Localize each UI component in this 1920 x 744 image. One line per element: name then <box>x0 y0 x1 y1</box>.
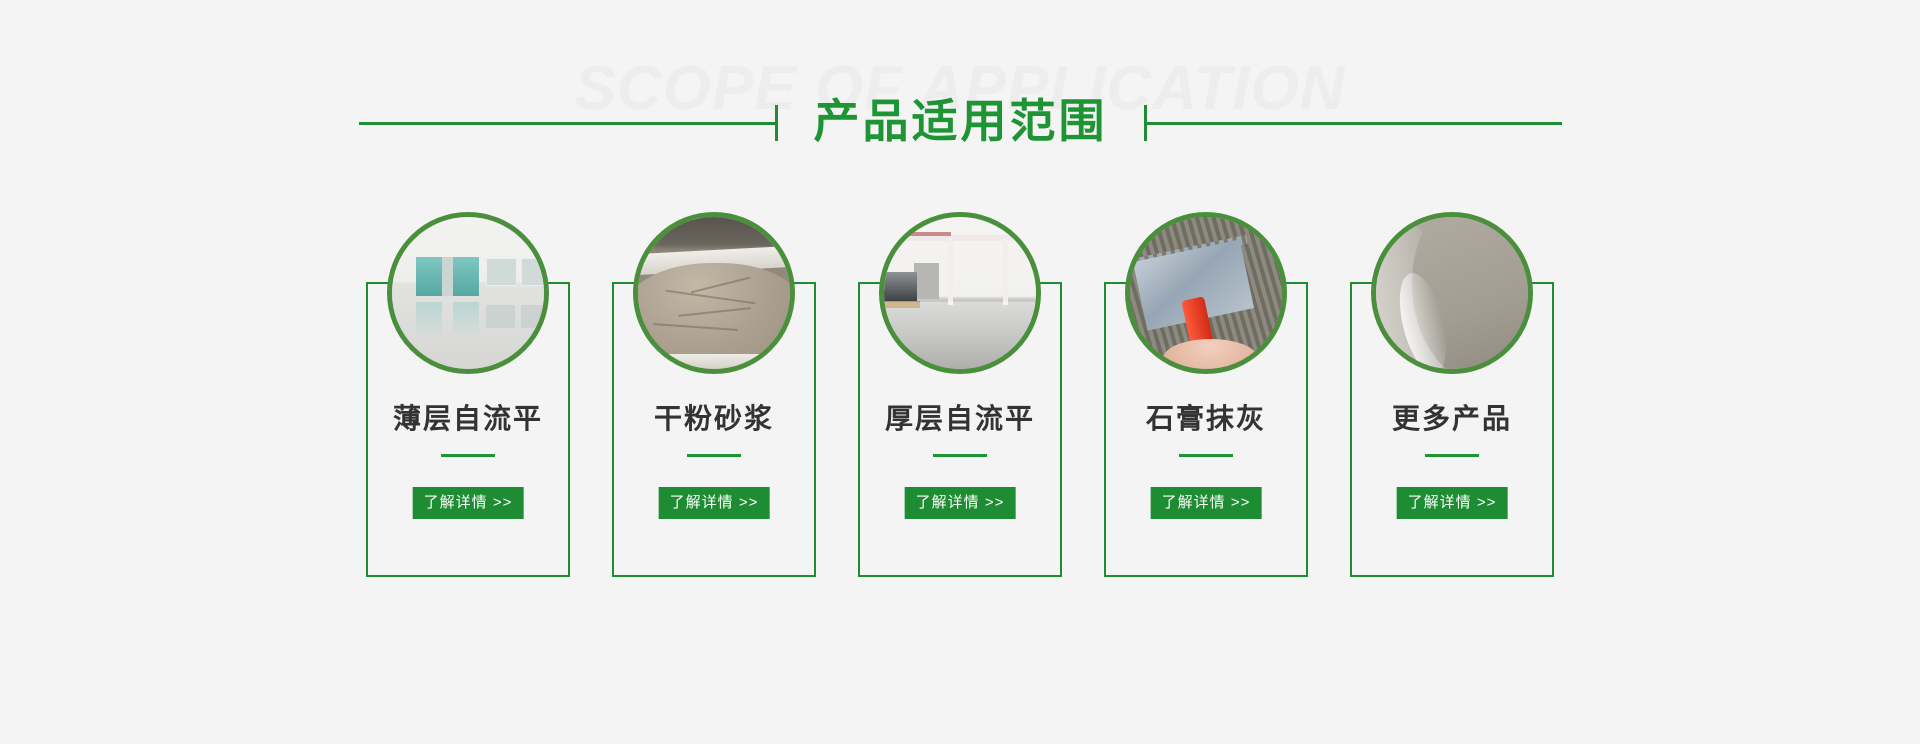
page-title: 产品适用范围 <box>778 98 1144 144</box>
title-rule-left <box>359 122 775 125</box>
product-card[interactable]: 石膏抹灰 了解详情 >> <box>1104 284 1308 577</box>
product-card-list: 薄层自流平 了解详情 >> 干粉砂浆 了解详情 >> <box>0 212 1920 577</box>
card-label: 薄层自流平 <box>366 405 570 433</box>
thin-self-leveling-floor-photo <box>387 212 549 374</box>
product-card[interactable]: 薄层自流平 了解详情 >> <box>366 284 570 577</box>
card-underline <box>441 454 495 457</box>
gypsum-plastering-trowel-photo <box>1125 212 1287 374</box>
card-underline <box>1179 454 1233 457</box>
learn-more-button[interactable]: 了解详情 >> <box>905 487 1016 519</box>
title-row: 产品适用范围 <box>0 100 1920 146</box>
product-card[interactable]: 厚层自流平 了解详情 >> <box>858 284 1062 577</box>
card-underline <box>687 454 741 457</box>
thick-self-leveling-floor-photo <box>879 212 1041 374</box>
learn-more-button[interactable]: 了解详情 >> <box>1151 487 1262 519</box>
learn-more-button[interactable]: 了解详情 >> <box>659 487 770 519</box>
card-underline <box>1425 454 1479 457</box>
card-label: 石膏抹灰 <box>1104 405 1308 433</box>
section-header: SCOPE OF APPLICATION 产品适用范围 <box>0 0 1920 200</box>
learn-more-button[interactable]: 了解详情 >> <box>1397 487 1508 519</box>
card-underline <box>933 454 987 457</box>
card-label: 干粉砂浆 <box>612 405 816 433</box>
learn-more-button[interactable]: 了解详情 >> <box>413 487 524 519</box>
title-rule-right <box>1147 122 1562 125</box>
more-products-photo <box>1371 212 1533 374</box>
card-label: 厚层自流平 <box>858 405 1062 433</box>
product-card[interactable]: 干粉砂浆 了解详情 >> <box>612 284 816 577</box>
card-label: 更多产品 <box>1350 405 1554 433</box>
product-card[interactable]: 更多产品 了解详情 >> <box>1350 284 1554 577</box>
dry-powder-mortar-photo <box>633 212 795 374</box>
